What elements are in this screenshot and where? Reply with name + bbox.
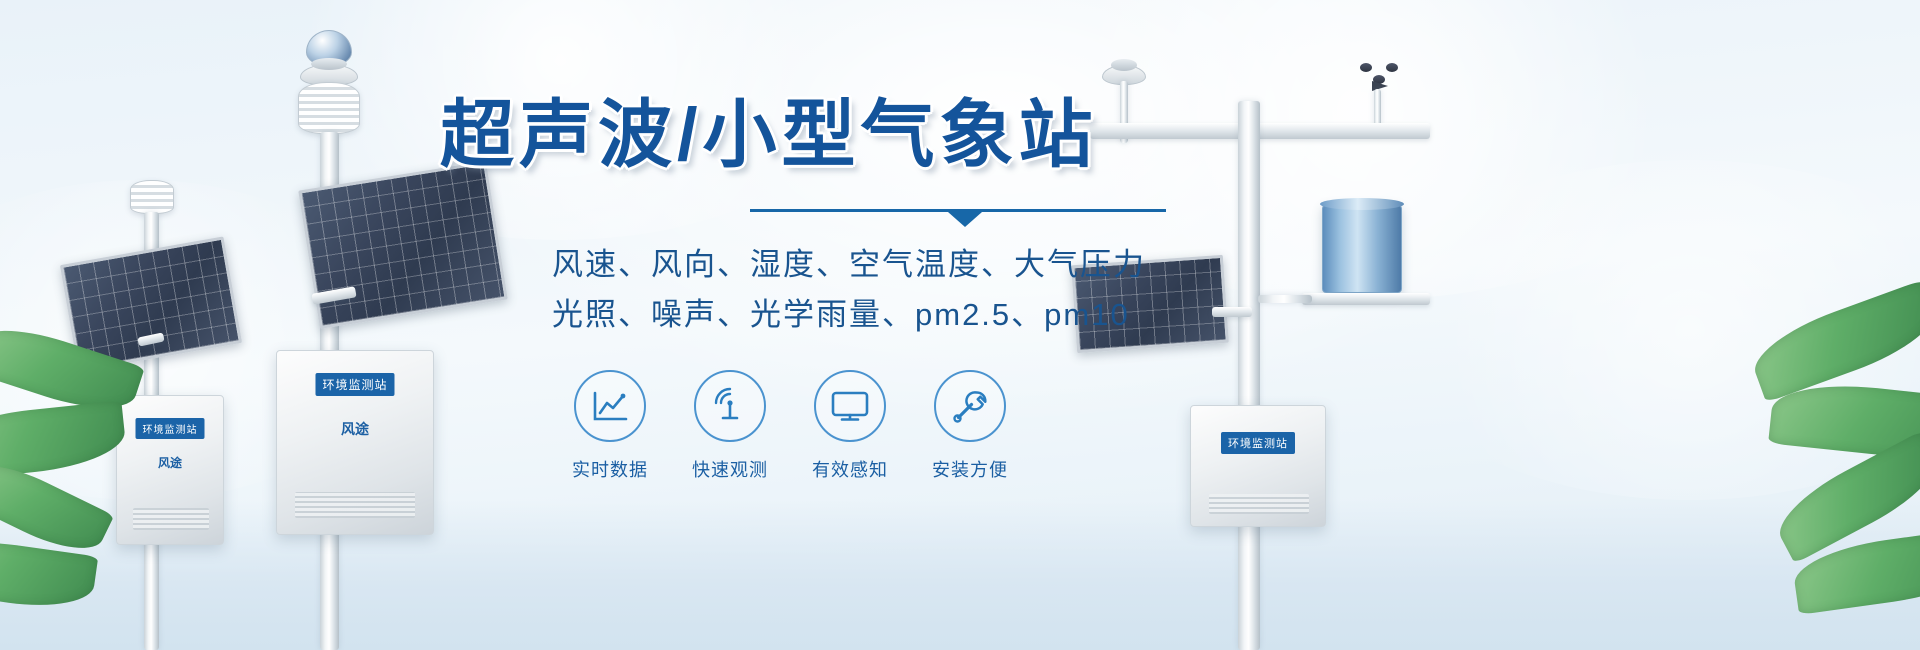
cabinet-vent [133,508,209,530]
feature-item-realtime-data[interactable]: 实时数据 [550,370,670,482]
feature-list: 实时数据 快速观测 [550,370,1140,482]
cabinet-plate-label: 环境监测站 [315,373,394,396]
rain-gauge-support [1258,295,1312,303]
feature-label: 快速观测 [670,456,790,482]
monitor-screen-icon [814,370,886,442]
product-banner: 环境监测站 风途 环境监测站 风途 [0,0,1920,650]
control-cabinet-left: 环境监测站 风途 [116,395,224,545]
radiation-shield-icon [298,82,360,134]
cabinet-vent [295,492,415,518]
divider-triangle-icon [948,212,982,227]
line-chart-icon [574,370,646,442]
solar-panel [60,236,242,371]
rain-gauge-icon [1322,203,1402,293]
title-divider [750,206,1166,224]
rain-gauge-shelf [1302,293,1430,305]
banner-content: 超声波/小型气象站 风速、风向、湿度、空气温度、大气压力 光照、噪声、光学雨量、… [440,96,1140,482]
feature-item-fast-observation[interactable]: 快速观测 [670,370,790,482]
feature-label: 有效感知 [790,456,910,482]
crossarm [1090,123,1430,139]
page-title: 超声波/小型气象站 [440,96,1140,174]
feature-label: 安装方便 [910,456,1030,482]
feature-item-effective-sensing[interactable]: 有效感知 [790,370,910,482]
feature-label: 实时数据 [550,456,670,482]
subtitle-line-1: 风速、风向、湿度、空气温度、大气压力 [552,240,1140,290]
subtitle-line-2: 光照、噪声、光学雨量、pm2.5、pm10 [552,290,1140,340]
cabinet-vent [1209,494,1309,514]
cabinet-plate-label: 环境监测站 [136,418,205,439]
control-cabinet-center: 环境监测站 风途 [276,350,434,535]
cabinet-plate-label: 环境监测站 [1221,432,1295,454]
cabinet-brand-label: 风途 [341,419,369,439]
radar-signal-icon [694,370,766,442]
control-cabinet-right: 环境监测站 [1190,405,1326,527]
feature-item-easy-installation[interactable]: 安装方便 [910,370,1030,482]
radiation-shield-icon [130,180,174,214]
cabinet-brand-label: 风途 [158,454,182,471]
mast-pole [1238,101,1260,650]
panel-bracket [1212,307,1252,317]
subtitle-block: 风速、风向、湿度、空气温度、大气压力 光照、噪声、光学雨量、pm2.5、pm10 [552,240,1140,340]
wrench-tool-icon [934,370,1006,442]
